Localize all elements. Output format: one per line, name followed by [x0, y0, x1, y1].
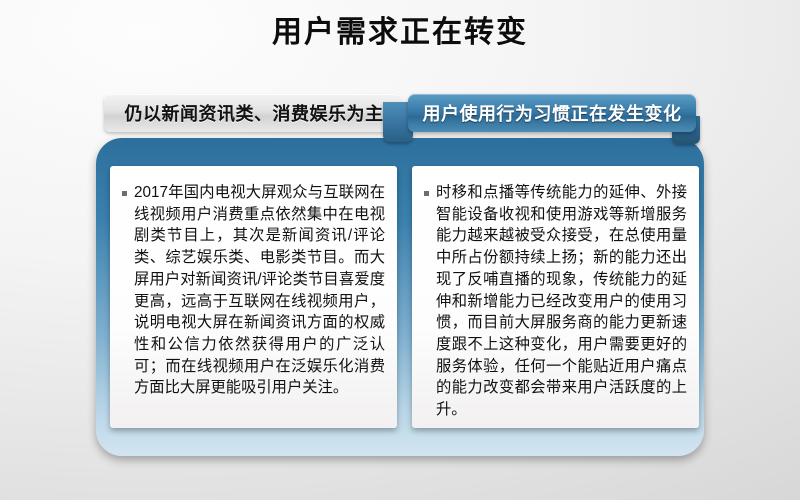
title-bar: 用户需求正在转变	[0, 16, 800, 49]
content-panel-left: 2017年国内电视大屏观众与互联网在线视频用户消费重点依然集中在电视剧类节目上，…	[110, 166, 397, 428]
content-panel-right-body: 时移和点播等传统能力的延伸、外接智能设备收视和使用游戏等新增服务能力越来越被受众…	[436, 182, 687, 421]
section-header-left-label: 仍以新闻资讯类、消费娱乐为主	[125, 100, 384, 126]
square-bullet-icon	[424, 191, 429, 196]
section-headers-row: 仍以新闻资讯类、消费娱乐为主 用户使用行为习惯正在发生变化	[0, 94, 800, 144]
page-title: 用户需求正在转变	[272, 16, 528, 49]
list-item: 2017年国内电视大屏观众与互联网在线视频用户消费重点依然集中在电视剧类节目上，…	[120, 182, 385, 399]
square-bullet-icon	[122, 191, 127, 196]
section-header-right-label: 用户使用行为习惯正在发生变化	[423, 100, 682, 126]
content-panel-left-body: 2017年国内电视大屏观众与互联网在线视频用户消费重点依然集中在电视剧类节目上，…	[134, 182, 385, 399]
section-header-left[interactable]: 仍以新闻资讯类、消费娱乐为主	[104, 94, 404, 132]
content-panel-right: 时移和点播等传统能力的延伸、外接智能设备收视和使用游戏等新增服务能力越来越被受众…	[412, 166, 699, 428]
section-header-right[interactable]: 用户使用行为习惯正在发生变化	[408, 94, 696, 132]
slide-canvas: 用户需求正在转变 仍以新闻资讯类、消费娱乐为主 用户使用行为习惯正在发生变化 2…	[0, 0, 800, 500]
list-item: 时移和点播等传统能力的延伸、外接智能设备收视和使用游戏等新增服务能力越来越被受众…	[422, 182, 687, 421]
